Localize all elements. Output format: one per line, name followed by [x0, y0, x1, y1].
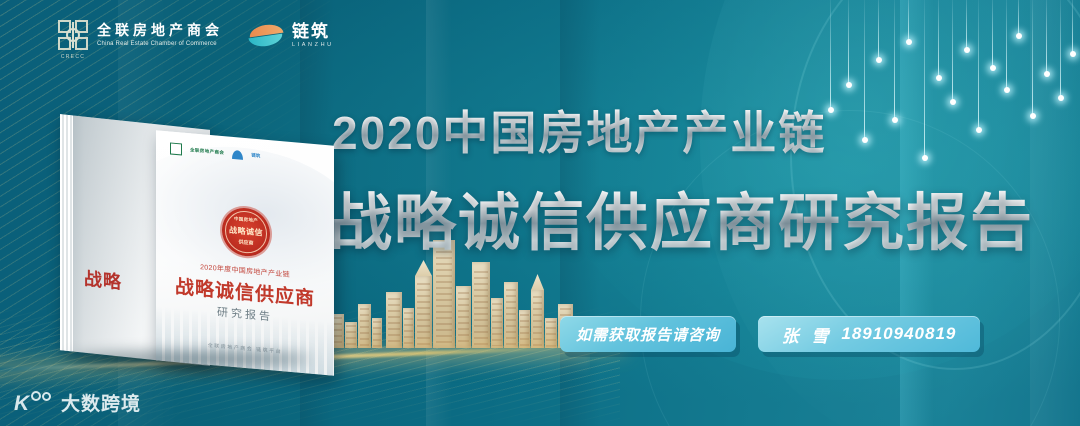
skyline-building — [415, 276, 432, 348]
watermark-letter: K — [14, 393, 29, 414]
watermark-text: 大数跨境 — [61, 389, 141, 416]
crecc-emblem-icon: CRECC — [58, 20, 88, 50]
book-crecc-icon — [170, 142, 182, 155]
lianzhu-logo: 链筑 LIANZHU — [249, 22, 334, 48]
light-streak — [830, 0, 831, 110]
contact-prompt-pill[interactable]: 如需获取报告请咨询 — [560, 316, 736, 352]
light-streak — [978, 0, 979, 130]
light-streak — [1046, 0, 1047, 74]
light-streak — [924, 0, 925, 158]
crecc-name-en: China Real Estate Chamber of Commerce — [97, 41, 223, 47]
title-line-2: 战略诚信供应商研究报告 — [330, 172, 1034, 262]
crecc-name-cn: 全联房地产商会 — [97, 23, 223, 38]
light-streak — [1006, 0, 1007, 90]
skyline-building — [358, 304, 371, 348]
light-streak — [878, 0, 879, 60]
light-streak — [952, 0, 953, 102]
lianzhu-name-cn: 链筑 — [292, 23, 334, 40]
title-line-1: 2020中国房地产产业链 — [332, 97, 826, 163]
skyline-building — [531, 290, 544, 348]
book-back-title: 战略 — [84, 265, 122, 295]
book-logo2-text: 链筑 — [251, 153, 260, 160]
light-streak — [992, 0, 993, 68]
falling-lights — [820, 0, 1080, 180]
contact-person-pill[interactable]: 张 雪 18910940819 — [758, 316, 980, 352]
lianzhu-name-en: LIANZHU — [292, 42, 334, 48]
book-lianzhu-icon — [232, 149, 243, 159]
skyline-building — [372, 318, 382, 348]
light-streak — [1072, 0, 1073, 54]
report-book-mockup: 战略 全联房地产商会 链筑 中国房地产 战略诚信 供应商 2020年度中国房地产… — [58, 118, 333, 368]
light-streak — [1018, 0, 1019, 36]
contact-phone-number: 18910940819 — [841, 324, 956, 344]
lianzhu-swoosh-icon — [249, 22, 283, 48]
light-streak — [938, 0, 939, 78]
skyline-building — [504, 282, 518, 348]
light-streak — [864, 0, 865, 140]
light-streak — [1060, 0, 1061, 98]
book-front-cover: 全联房地产商会 链筑 中国房地产 战略诚信 供应商 2020年度中国房地产产业链… — [156, 130, 334, 376]
light-streak — [1032, 0, 1033, 116]
contact-row: 如需获取报告请咨询 张 雪 18910940819 — [560, 316, 980, 352]
light-streak — [908, 0, 909, 42]
skyline-building — [545, 318, 557, 348]
crecc-mark-caption: CRECC — [58, 54, 88, 60]
light-streak — [848, 0, 849, 85]
light-streak — [894, 0, 895, 120]
watermark-logo-icon: K — [14, 391, 54, 415]
skyline-building — [472, 262, 490, 348]
book-page-edges — [60, 114, 73, 351]
skyline-building — [491, 298, 503, 348]
logo-row: CRECC 全联房地产商会 China Real Estate Chamber … — [58, 20, 334, 50]
skyline-building — [345, 322, 357, 348]
contact-person-name: 张 雪 — [782, 322, 833, 347]
book-drop-shadow — [70, 352, 310, 366]
book-logo1-text: 全联房地产商会 — [190, 147, 224, 156]
crecc-logo: CRECC 全联房地产商会 China Real Estate Chamber … — [58, 20, 223, 50]
skyline-building — [456, 286, 471, 348]
seal-line-3: 供应商 — [222, 237, 270, 248]
skyline-building — [403, 308, 414, 348]
skyline-building — [519, 310, 530, 348]
watermark: K 大数跨境 — [14, 389, 141, 416]
light-streak — [966, 0, 967, 50]
promo-banner: CRECC 全联房地产商会 China Real Estate Chamber … — [0, 0, 1080, 426]
skyline-building — [386, 292, 402, 348]
light-band — [1030, 0, 1080, 426]
